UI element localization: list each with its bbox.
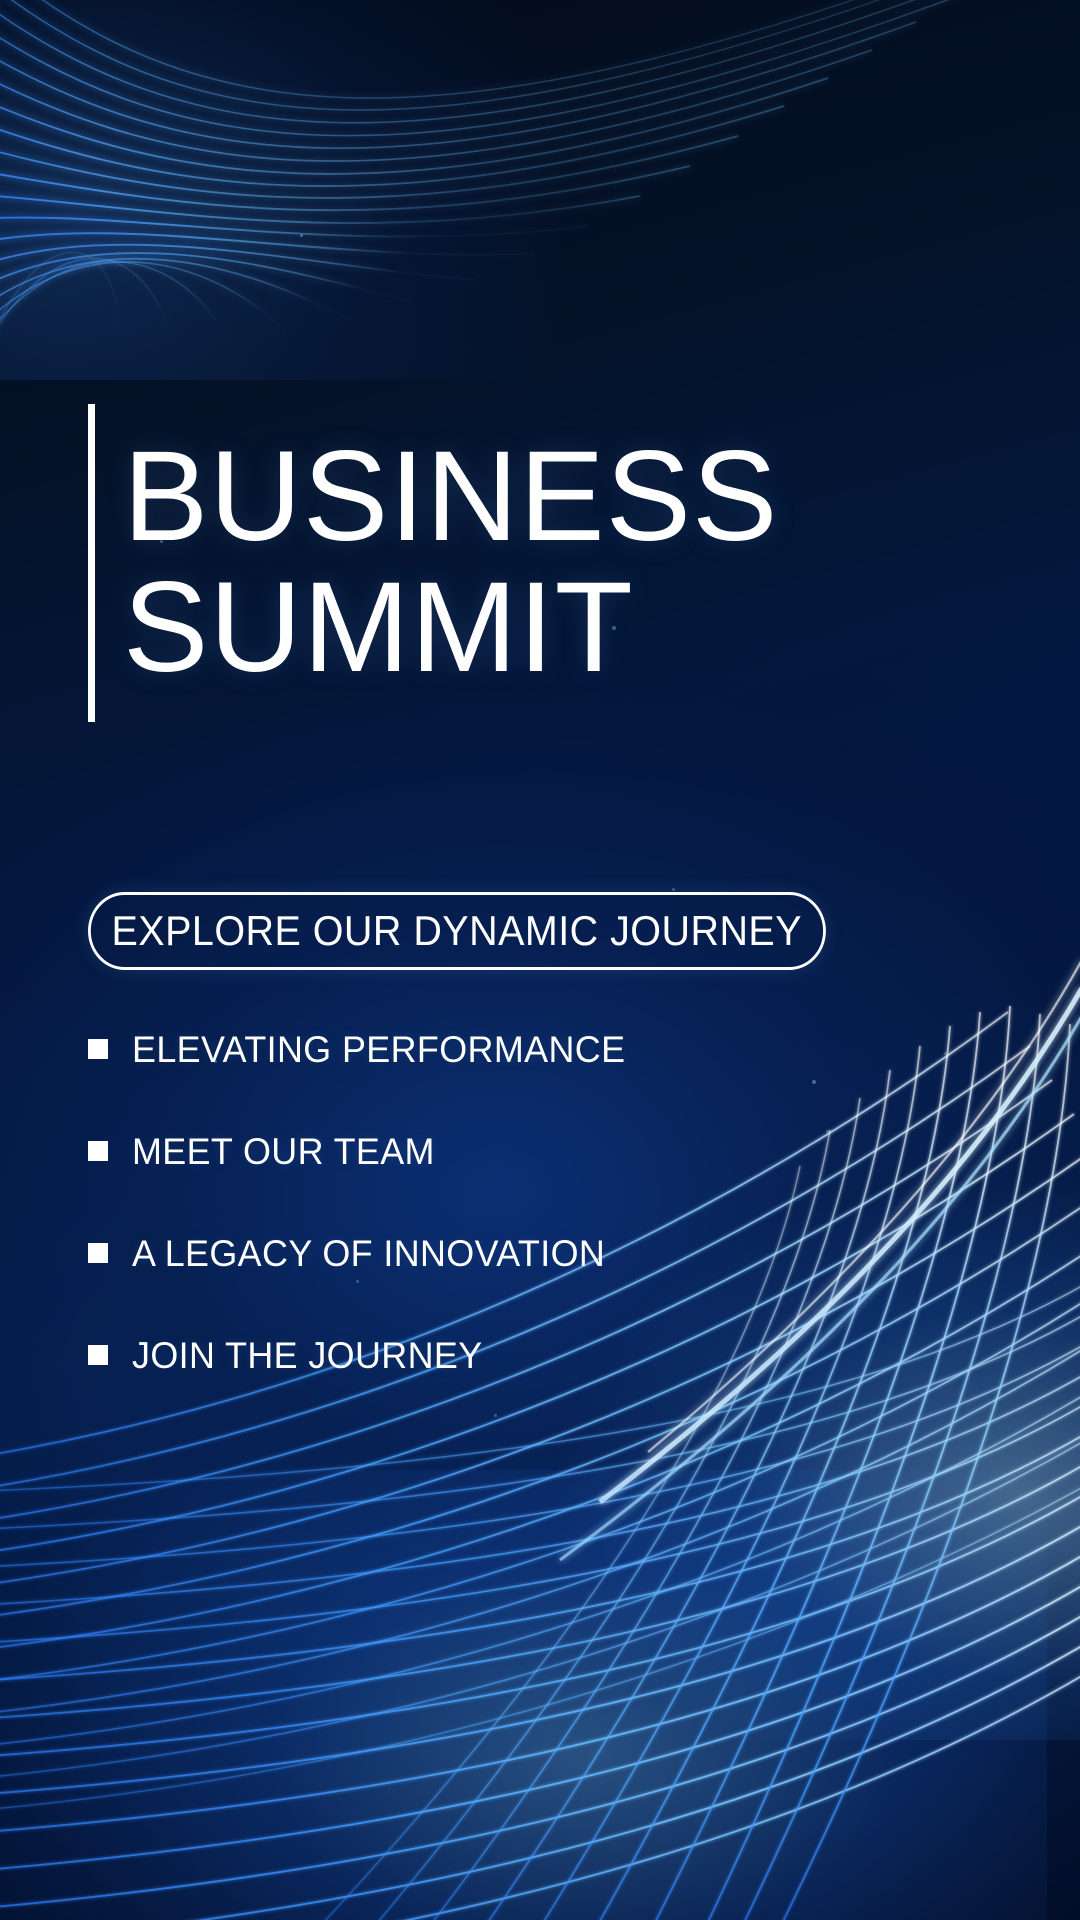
square-bullet-icon [88,1243,108,1263]
title-text-group: BUSINESS SUMMIT [123,404,778,722]
title-accent-rule [88,404,95,722]
list-item[interactable]: A LEGACY OF INNOVATION [88,1214,848,1292]
agenda-list: ELEVATING PERFORMANCE MEET OUR TEAM A LE… [88,1010,848,1418]
list-item-label: JOIN THE JOURNEY [132,1337,483,1374]
square-bullet-icon [88,1141,108,1161]
square-bullet-icon [88,1039,108,1059]
poster-title: BUSINESS SUMMIT [88,404,778,722]
list-item-label: MEET OUR TEAM [132,1133,435,1170]
list-item-label: ELEVATING PERFORMANCE [132,1031,625,1068]
square-bullet-icon [88,1345,108,1365]
list-item[interactable]: JOIN THE JOURNEY [88,1316,848,1394]
title-line-1: BUSINESS [123,432,778,563]
list-item[interactable]: ELEVATING PERFORMANCE [88,1010,848,1088]
title-line-2: SUMMIT [123,563,778,694]
list-item[interactable]: MEET OUR TEAM [88,1112,848,1190]
explore-journey-button[interactable]: EXPLORE OUR DYNAMIC JOURNEY [88,892,826,970]
list-item-label: A LEGACY OF INNOVATION [132,1235,605,1272]
poster-canvas: BUSINESS SUMMIT EXPLORE OUR DYNAMIC JOUR… [0,0,1080,1920]
poster-content: BUSINESS SUMMIT EXPLORE OUR DYNAMIC JOUR… [0,0,1080,1920]
